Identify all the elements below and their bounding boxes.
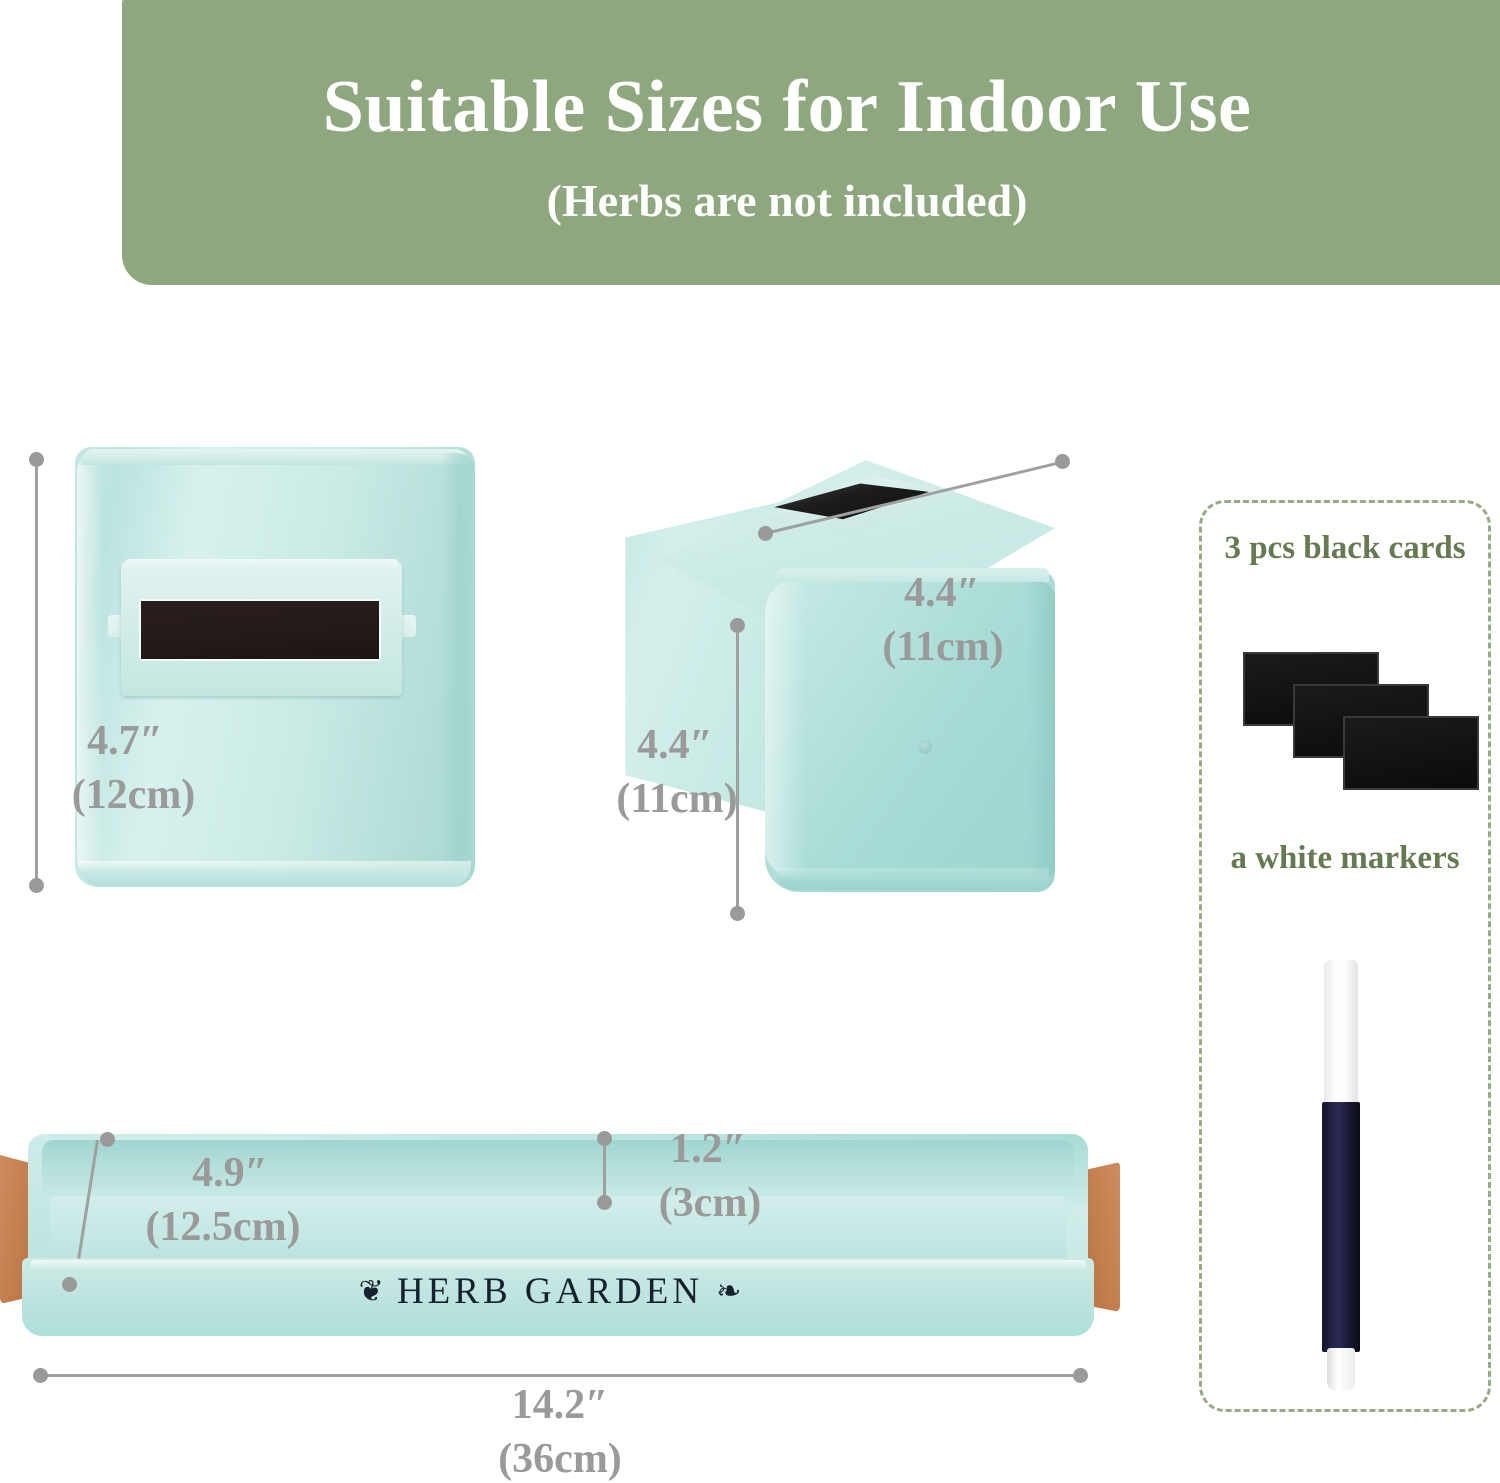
tray-front-highlight bbox=[30, 1260, 1086, 1270]
planter-front-right-edge bbox=[441, 453, 475, 881]
planter-angled-front-bottom-edge bbox=[773, 868, 1049, 890]
tray-depth-dimension-dot-top bbox=[100, 1132, 115, 1147]
angled-height-label-inches: 4.4″ bbox=[600, 722, 750, 769]
tray-rim-dimension-line bbox=[603, 1139, 606, 1203]
laurel-right-icon: ❧ bbox=[716, 1275, 741, 1308]
chalkboard-card bbox=[139, 599, 381, 661]
front-height-dimension-dot-top bbox=[29, 452, 44, 467]
tray-brand-text: ❦ HERB GARDEN ❧ bbox=[330, 1270, 770, 1313]
product-angled-view bbox=[615, 452, 1065, 912]
tray-width-label-inches: 14.2″ bbox=[470, 1382, 650, 1429]
planter-front-top-edge bbox=[81, 449, 469, 465]
angled-height-dimension-line bbox=[736, 626, 739, 914]
tray-rim-dimension-dot-bottom bbox=[597, 1195, 612, 1210]
tray-width-label-cm: (36cm) bbox=[462, 1436, 658, 1483]
tray-depth-label-cm: (12.5cm) bbox=[113, 1204, 333, 1251]
tray-depth-label-inches: 4.9″ bbox=[160, 1150, 300, 1197]
accessory-markers-label: a white markers bbox=[1205, 838, 1485, 878]
front-height-label-inches: 4.7″ bbox=[55, 718, 195, 765]
angled-height-label-cm: (11cm) bbox=[588, 776, 766, 823]
tray-brand-label: HERB GARDEN bbox=[397, 1271, 703, 1312]
planter-front-bottom-edge bbox=[79, 861, 471, 887]
page-subtitle: (Herbs are not included) bbox=[122, 178, 1452, 224]
front-height-label-cm: (12cm) bbox=[46, 772, 221, 819]
tray-rim-label-inches: 1.2″ bbox=[638, 1126, 778, 1173]
tray-width-dimension-dot-left bbox=[33, 1368, 48, 1383]
black-card-3 bbox=[1343, 716, 1479, 790]
tray-rim-label-cm: (3cm) bbox=[620, 1180, 800, 1227]
front-height-dimension-line bbox=[35, 460, 38, 886]
angled-width-dimension-dot-right bbox=[1055, 454, 1070, 469]
accessory-cards-label: 3 pcs black cards bbox=[1205, 528, 1485, 568]
header-banner: Suitable Sizes for Indoor Use (Herbs are… bbox=[122, 0, 1500, 285]
angled-height-dimension-dot-top bbox=[730, 618, 745, 633]
label-holder-lip bbox=[125, 559, 398, 569]
white-marker-pen bbox=[1322, 960, 1360, 1390]
planter-angled-front-right-edge bbox=[1027, 582, 1055, 882]
marker-pen-body bbox=[1322, 1102, 1360, 1352]
angled-width-label-inches: 4.4″ bbox=[862, 570, 1022, 617]
angled-height-dimension-dot-bottom bbox=[730, 906, 745, 921]
tray-depth-dimension-dot-bottom bbox=[62, 1277, 77, 1292]
page-title: Suitable Sizes for Indoor Use bbox=[122, 70, 1452, 144]
product-front-view bbox=[75, 447, 475, 887]
marker-pen-cap bbox=[1324, 960, 1358, 1104]
planter-angled-front-highlight bbox=[765, 578, 805, 878]
angled-width-dimension-dot-left bbox=[758, 526, 773, 541]
tray-width-dimension-dot-right bbox=[1073, 1368, 1088, 1383]
tray-rim-dimension-dot-top bbox=[597, 1131, 612, 1146]
laurel-left-icon: ❦ bbox=[359, 1275, 384, 1308]
drain-hole-icon bbox=[918, 740, 932, 754]
angled-width-label-cm: (11cm) bbox=[858, 624, 1028, 671]
front-height-dimension-dot-bottom bbox=[29, 878, 44, 893]
marker-pen-end-cap bbox=[1327, 1348, 1355, 1390]
tray-width-dimension-line bbox=[40, 1374, 1080, 1377]
planter-angled-front-face bbox=[765, 570, 1055, 892]
